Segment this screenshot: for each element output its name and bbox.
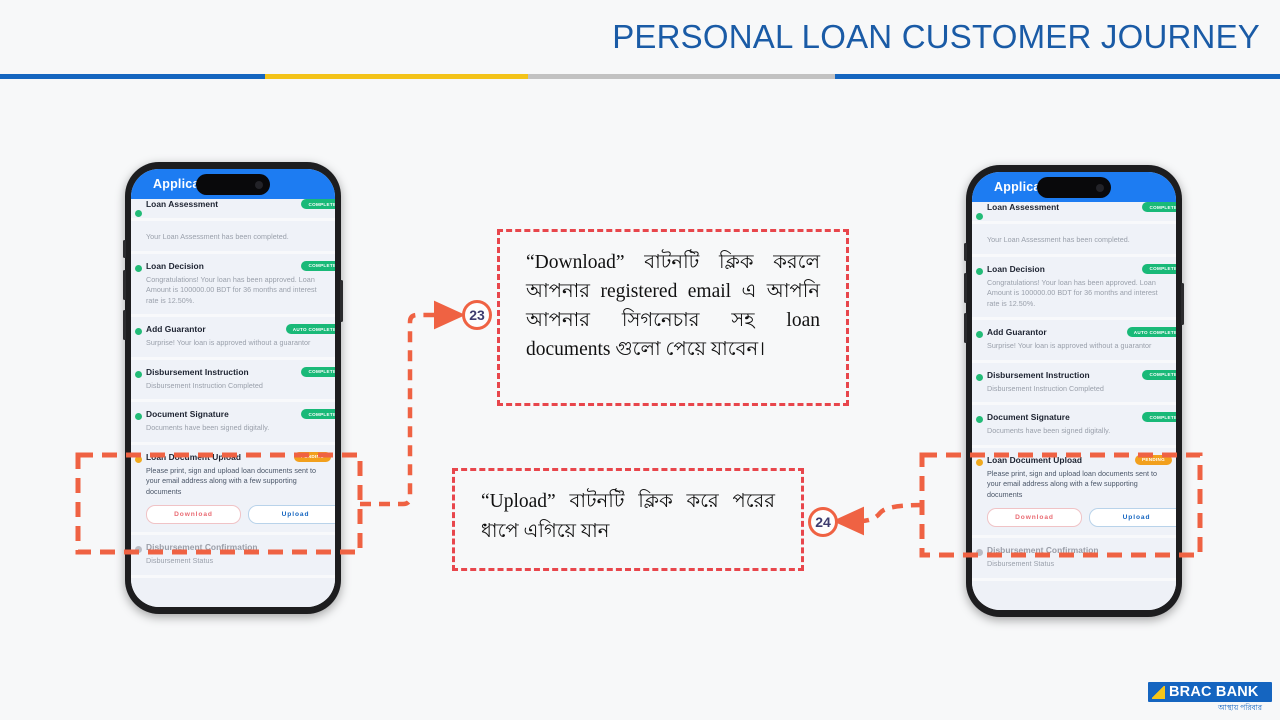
connector-to-badge-23 xyxy=(360,315,452,504)
logo-tagline: আস্থায় পরিবার xyxy=(1148,703,1272,715)
loan-step-list[interactable]: Loan Assessment COMPLETED Your Loan Asse… xyxy=(131,199,335,607)
list-item-loan-decision[interactable]: Loan Decision COMPLETED Congratulations!… xyxy=(131,254,335,318)
status-badge: COMPLETED xyxy=(1142,412,1176,422)
list-item-add-guarantor[interactable]: Add Guarantor AUTO COMPLETED Surprise! Y… xyxy=(972,320,1176,363)
status-dot-icon xyxy=(976,549,983,556)
step-title: Loan Document Upload xyxy=(987,455,1082,465)
step-title: Add Guarantor xyxy=(146,324,206,334)
status-badge: PENDING xyxy=(294,452,331,462)
step-title: Loan Assessment xyxy=(146,199,218,209)
app-bar: Application xyxy=(972,172,1176,202)
list-item-disbursement-instruction[interactable]: Disbursement Instruction COMPLETED Disbu… xyxy=(131,360,335,403)
brac-bank-mark-icon xyxy=(1152,686,1165,699)
phone-mockup-right: Application Loan Assessment COMPLETED Yo… xyxy=(966,165,1182,617)
brac-bank-logo: BRAC BANK আস্থায় পরিবার xyxy=(1148,682,1272,715)
download-button[interactable]: Download xyxy=(987,508,1082,527)
download-button[interactable]: Download xyxy=(146,505,241,524)
step-description: Disbursement Status xyxy=(146,556,325,567)
front-camera-icon xyxy=(1096,184,1104,192)
action-button-row: Download Upload xyxy=(987,508,1166,527)
upload-button[interactable]: Upload xyxy=(248,505,335,524)
phone-mockup-left: Application Loan Assessment COMPLETED Yo… xyxy=(125,162,341,614)
status-dot-icon xyxy=(976,331,983,338)
status-dot-icon xyxy=(976,213,983,220)
logo-bar: BRAC BANK xyxy=(1148,682,1272,702)
step-description: Please print, sign and upload loan docum… xyxy=(987,469,1166,501)
list-item-loan-decision[interactable]: Loan Decision COMPLETED Congratulations!… xyxy=(972,257,1176,321)
status-dot-icon xyxy=(976,268,983,275)
action-button-row: Download Upload xyxy=(146,505,325,524)
step-title: Disbursement Confirmation xyxy=(987,545,1099,555)
list-item-document-signature[interactable]: Document Signature COMPLETED Documents h… xyxy=(131,402,335,445)
divider-segment-blue-left xyxy=(0,74,265,79)
step-description: Documents have been signed digitally. xyxy=(146,423,325,434)
step-title: Disbursement Instruction xyxy=(987,370,1090,380)
callout-text: “Upload” বাটনটি ক্লিক করে পরের ধাপে এগিয… xyxy=(481,487,775,547)
step-description: Disbursement Instruction Completed xyxy=(146,381,325,392)
phone-mute-switch[interactable] xyxy=(964,243,967,261)
step-number-badge-24: 24 xyxy=(808,507,838,537)
step-title: Add Guarantor xyxy=(987,327,1047,337)
step-title: Document Signature xyxy=(987,412,1070,422)
step-description: Surprise! Your loan is approved without … xyxy=(146,338,325,349)
page-title: PERSONAL LOAN CUSTOMER JOURNEY xyxy=(612,18,1260,56)
step-description: Surprise! Your loan is approved without … xyxy=(987,341,1166,352)
slide-canvas: PERSONAL LOAN CUSTOMER JOURNEY Applicati… xyxy=(0,0,1280,720)
loan-step-list[interactable]: Loan Assessment COMPLETED Your Loan Asse… xyxy=(972,202,1176,610)
phone-screen-right: Application Loan Assessment COMPLETED Yo… xyxy=(972,172,1176,610)
divider-segment-yellow xyxy=(265,74,528,79)
list-item-loan-assessment-header[interactable]: Loan Assessment COMPLETED xyxy=(972,202,1176,224)
status-dot-icon xyxy=(135,328,142,335)
step-title: Disbursement Instruction xyxy=(146,367,249,377)
status-dot-icon xyxy=(135,210,142,217)
callout-text: “Download” বাটনটি ক্লিক করলে আপনার regis… xyxy=(526,248,820,364)
front-camera-icon xyxy=(255,181,263,189)
list-item-loan-assessment-body[interactable]: Your Loan Assessment has been completed. xyxy=(972,224,1176,257)
phone-volume-down-button[interactable] xyxy=(964,313,967,343)
phone-volume-down-button[interactable] xyxy=(123,310,126,340)
status-dot-icon xyxy=(135,371,142,378)
step-description: Your Loan Assessment has been completed. xyxy=(146,232,325,243)
step-description: Disbursement Status xyxy=(987,559,1166,570)
divider-segment-gray xyxy=(528,74,835,79)
status-badge: AUTO COMPLETED xyxy=(286,324,335,334)
dynamic-island xyxy=(196,174,270,195)
step-title: Disbursement Confirmation xyxy=(146,542,258,552)
list-item-document-signature[interactable]: Document Signature COMPLETED Documents h… xyxy=(972,405,1176,448)
step-title: Loan Decision xyxy=(146,261,204,271)
phone-screen-left: Application Loan Assessment COMPLETED Yo… xyxy=(131,169,335,607)
status-badge: COMPLETED xyxy=(1142,264,1176,274)
list-item-disbursement-confirmation[interactable]: Disbursement Confirmation Disbursement S… xyxy=(972,538,1176,581)
status-dot-icon xyxy=(976,416,983,423)
list-item-add-guarantor[interactable]: Add Guarantor AUTO COMPLETED Surprise! Y… xyxy=(131,317,335,360)
status-badge: COMPLETED xyxy=(301,409,335,419)
list-item-loan-assessment-header[interactable]: Loan Assessment COMPLETED xyxy=(131,199,335,221)
status-badge: AUTO COMPLETED xyxy=(1127,327,1176,337)
status-dot-icon xyxy=(135,413,142,420)
upload-button[interactable]: Upload xyxy=(1089,508,1176,527)
dynamic-island xyxy=(1037,177,1111,198)
phone-power-button[interactable] xyxy=(340,280,343,322)
step-description: Your Loan Assessment has been completed. xyxy=(987,235,1166,246)
status-dot-icon xyxy=(135,546,142,553)
callout-box-24: “Upload” বাটনটি ক্লিক করে পরের ধাপে এগিয… xyxy=(452,468,804,571)
phone-volume-up-button[interactable] xyxy=(964,273,967,303)
step-description: Congratulations! Your loan has been appr… xyxy=(987,278,1166,310)
step-number-badge-23: 23 xyxy=(462,300,492,330)
status-badge: COMPLETED xyxy=(1142,202,1176,212)
step-description: Congratulations! Your loan has been appr… xyxy=(146,275,325,307)
status-dot-icon xyxy=(135,456,142,463)
callout-box-23: “Download” বাটনটি ক্লিক করলে আপনার regis… xyxy=(497,229,849,406)
phone-mute-switch[interactable] xyxy=(123,240,126,258)
status-badge: COMPLETED xyxy=(301,367,335,377)
step-title: Document Signature xyxy=(146,409,229,419)
list-item-loan-document-upload[interactable]: Loan Document Upload PENDING Please prin… xyxy=(972,448,1176,539)
step-title: Loan Assessment xyxy=(987,202,1059,212)
status-badge: PENDING xyxy=(1135,455,1172,465)
phone-power-button[interactable] xyxy=(1181,283,1184,325)
list-item-loan-document-upload[interactable]: Loan Document Upload PENDING Please prin… xyxy=(131,445,335,536)
status-badge: COMPLETED xyxy=(301,199,335,209)
status-dot-icon xyxy=(976,459,983,466)
step-description: Disbursement Instruction Completed xyxy=(987,384,1166,395)
step-description: Please print, sign and upload loan docum… xyxy=(146,466,325,498)
app-bar: Application xyxy=(131,169,335,199)
header-divider xyxy=(0,74,1280,79)
step-title: Loan Document Upload xyxy=(146,452,241,462)
status-dot-icon xyxy=(976,374,983,381)
step-description: Documents have been signed digitally. xyxy=(987,426,1166,437)
logo-text: BRAC BANK xyxy=(1169,685,1259,700)
divider-segment-blue-right xyxy=(835,74,1280,79)
status-dot-icon xyxy=(135,265,142,272)
list-item-disbursement-confirmation[interactable]: Disbursement Confirmation Disbursement S… xyxy=(131,535,335,578)
status-badge: COMPLETED xyxy=(1142,370,1176,380)
status-badge: COMPLETED xyxy=(301,261,335,271)
phone-volume-up-button[interactable] xyxy=(123,270,126,300)
list-item-disbursement-instruction[interactable]: Disbursement Instruction COMPLETED Disbu… xyxy=(972,363,1176,406)
list-item-loan-assessment-body[interactable]: Your Loan Assessment has been completed. xyxy=(131,221,335,254)
connector-to-badge-24 xyxy=(846,505,922,521)
step-title: Loan Decision xyxy=(987,264,1045,274)
